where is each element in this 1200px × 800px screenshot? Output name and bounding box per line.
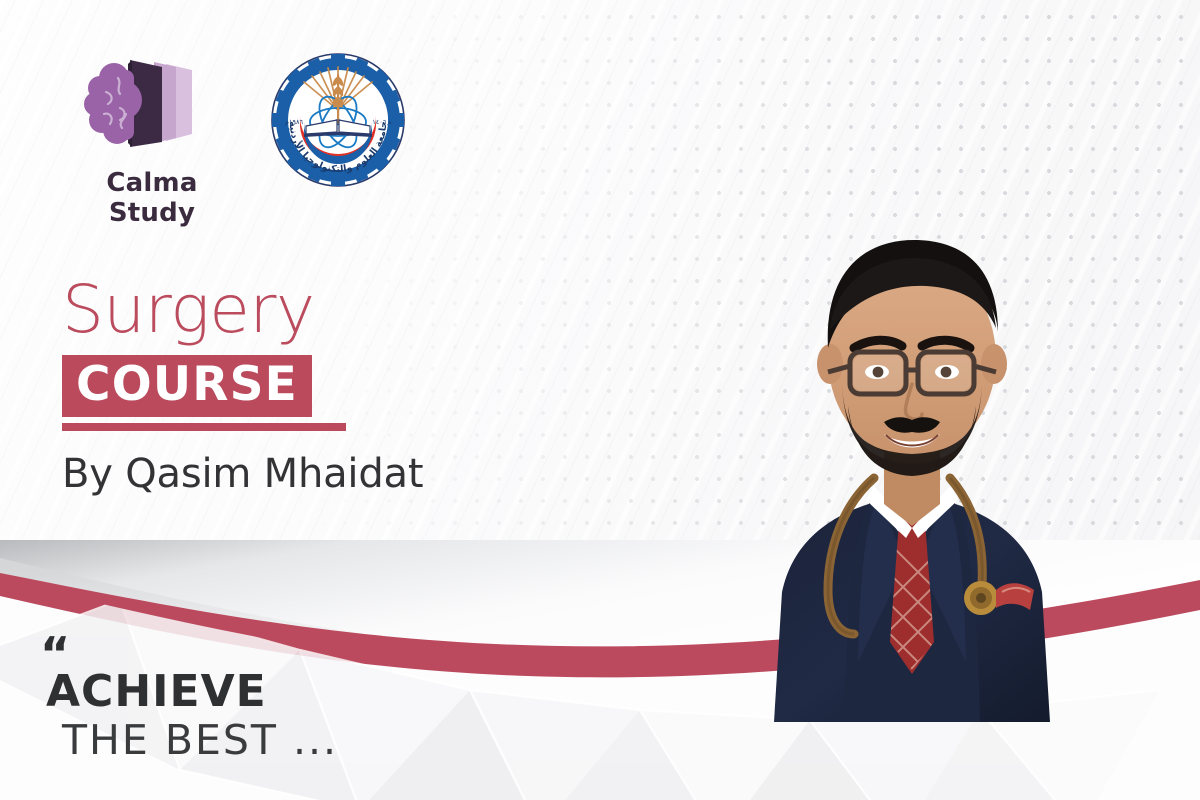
course-promo-banner: Calma Study [0,0,1200,800]
calma-study-wordmark: Calma Study [62,168,242,228]
university-seal-icon[interactable]: ١٩٨٦م ه ١٤٠٦ جامعة العلوم والتكنولوجيا ا… [268,50,408,190]
tagline-primary: ACHIEVE [46,669,338,716]
doctor-photo-illustration [678,122,1148,722]
logo-row: Calma Study [62,48,408,228]
tagline-block: “ ACHIEVE THE BEST ... [40,643,338,764]
course-title: Surgery [62,278,542,341]
instructor-byline: By Qasim Mhaidat [62,451,542,497]
instructor-portrait [678,122,1148,722]
brain-book-logo-icon [70,48,205,153]
tagline-secondary: THE BEST ... [62,716,338,764]
course-subtitle-bar: COURSE [62,355,312,417]
course-subtitle: COURSE [76,361,298,409]
course-underline-rule [62,423,346,431]
headline-block: Surgery COURSE By Qasim Mhaidat [62,278,542,497]
calma-study-logo[interactable]: Calma Study [62,48,242,228]
